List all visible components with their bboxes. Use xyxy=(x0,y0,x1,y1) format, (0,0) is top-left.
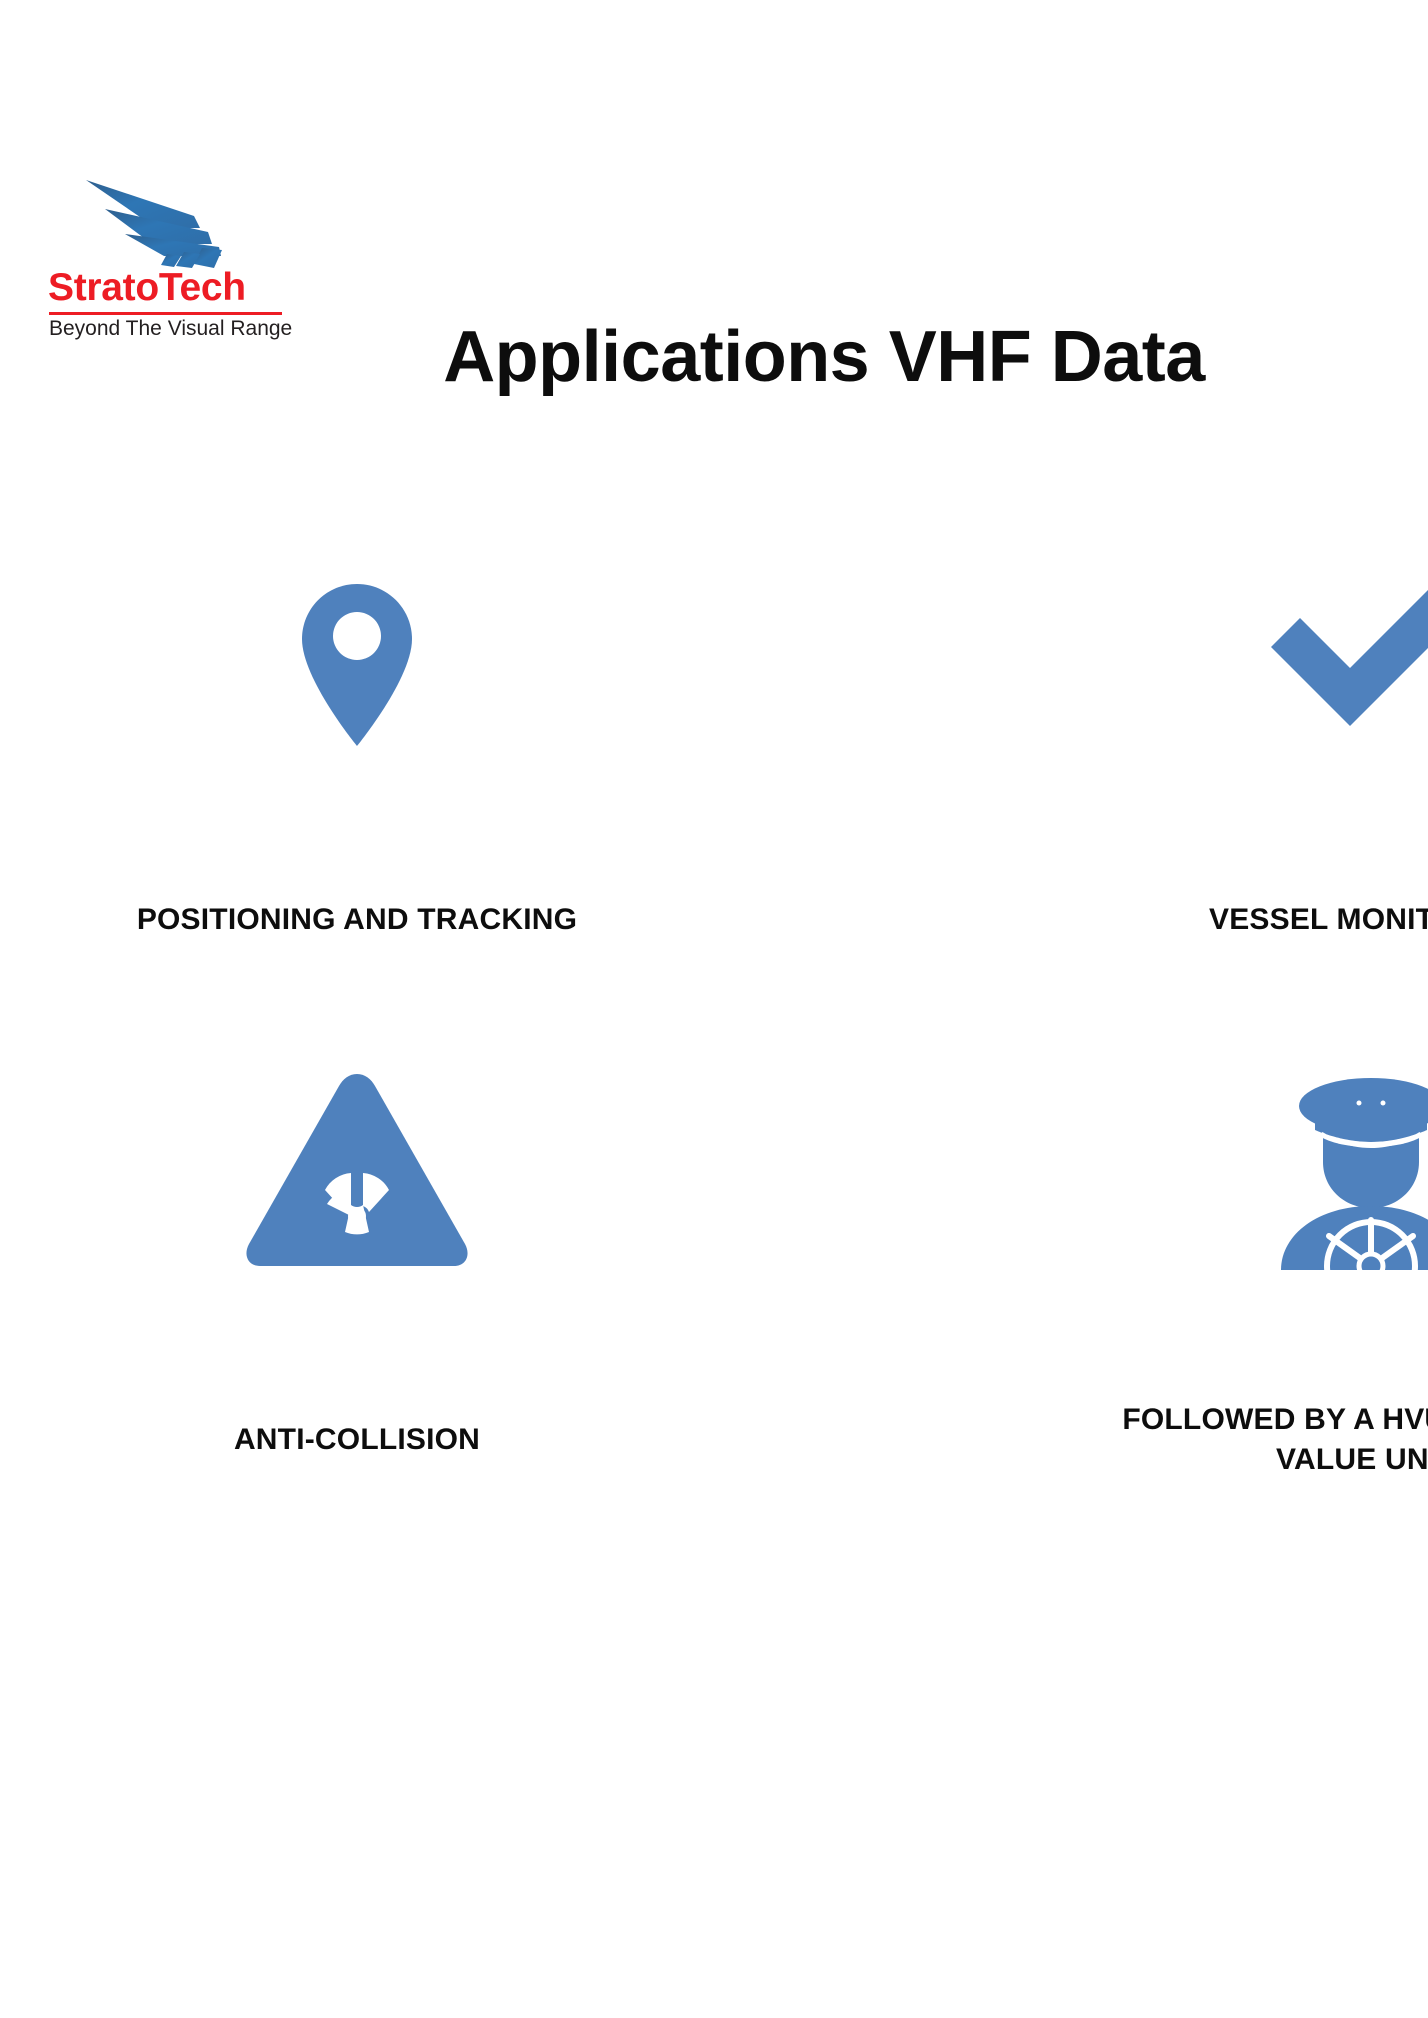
label-row-bottom: ANTI-COLLISION FOLLOWED BY A HVU SHIP (H… xyxy=(0,1360,1428,1520)
item-label-anti-collision: ANTI-COLLISION xyxy=(0,1420,714,1461)
applications-grid: POSITIONING AND TRACKING VESSEL MONITORI… xyxy=(0,470,1428,1520)
page-title-text: Applications VHF Data xyxy=(443,318,1205,397)
page-title: Applications VHF Data xyxy=(0,318,1428,397)
item-label-vessel-monitoring: VESSEL MONITORING xyxy=(1014,900,1428,941)
item-cell-anti-collision xyxy=(0,980,714,1360)
item-cell-hvu-ship xyxy=(1014,980,1428,1360)
icon-row-top xyxy=(0,470,1428,860)
radiation-warning-triangle-icon xyxy=(245,1072,469,1268)
item-label-cell-anti-collision: ANTI-COLLISION xyxy=(0,1360,714,1520)
item-label-cell-positioning: POSITIONING AND TRACKING xyxy=(0,860,714,980)
item-cell-positioning xyxy=(0,470,714,860)
item-label-cell-vessel-monitoring: VESSEL MONITORING xyxy=(1014,860,1428,980)
icon-row-bottom xyxy=(0,980,1428,1360)
logo-underline xyxy=(49,312,282,315)
ship-captain-icon xyxy=(1271,1070,1428,1270)
label-row-top: POSITIONING AND TRACKING VESSEL MONITORI… xyxy=(0,860,1428,980)
checkmark-icon xyxy=(1264,585,1428,745)
item-label-positioning: POSITIONING AND TRACKING xyxy=(0,900,714,941)
wing-icon xyxy=(82,176,232,268)
logo-company-name: StratoTech xyxy=(48,268,288,307)
slide-canvas: StratoTech Beyond The Visual Range Appli… xyxy=(0,0,1428,2018)
location-pin-icon xyxy=(302,584,412,746)
item-label-cell-hvu-ship: FOLLOWED BY A HVU SHIP (HIGH VALUE UNIT) xyxy=(1014,1360,1428,1520)
item-cell-vessel-monitoring xyxy=(1014,470,1428,860)
item-label-hvu-ship: FOLLOWED BY A HVU SHIP (HIGH VALUE UNIT) xyxy=(1014,1400,1428,1481)
